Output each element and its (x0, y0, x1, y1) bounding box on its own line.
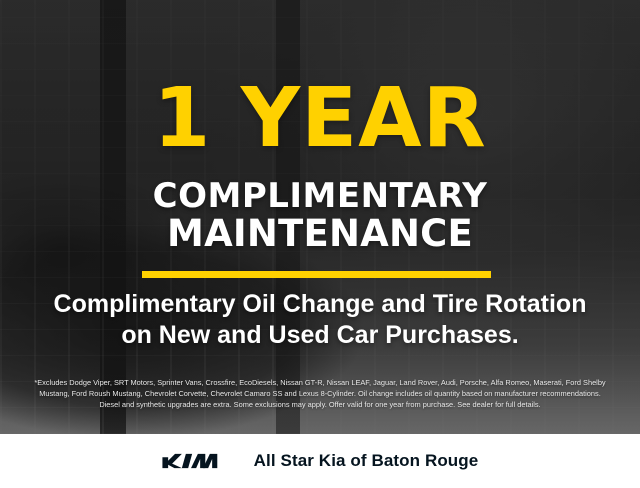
offer-description: Complimentary Oil Change and Tire Rotati… (0, 289, 640, 351)
headline-maintenance: MAINTENANCE (0, 214, 640, 254)
dealer-footer: All Star Kia of Baton Rouge (0, 434, 640, 488)
kia-logo-icon (162, 451, 236, 471)
yellow-divider-bar (142, 271, 491, 278)
headline-subtitle: COMPLIMENTARY MAINTENANCE (0, 178, 640, 254)
offer-line-2: on New and Used Car Purchases. (0, 320, 640, 351)
offer-line-1: Complimentary Oil Change and Tire Rotati… (0, 289, 640, 320)
headline-year: 1 YEAR (0, 78, 640, 160)
dealer-name: All Star Kia of Baton Rouge (254, 451, 479, 471)
promotional-banner: 1 YEAR COMPLIMENTARY MAINTENANCE Complim… (0, 0, 640, 488)
disclaimer-line-1: *Excludes Dodge Viper, SRT Motors, Sprin… (14, 377, 626, 388)
banner-content: 1 YEAR COMPLIMENTARY MAINTENANCE Complim… (0, 0, 640, 488)
disclaimer-line-3: Diesel and synthetic upgrades are extra.… (14, 399, 626, 410)
headline-complimentary: COMPLIMENTARY (0, 178, 640, 214)
disclaimer-line-2: Mustang, Ford Roush Mustang, Chevrolet C… (14, 388, 626, 399)
disclaimer-text: *Excludes Dodge Viper, SRT Motors, Sprin… (14, 377, 626, 410)
